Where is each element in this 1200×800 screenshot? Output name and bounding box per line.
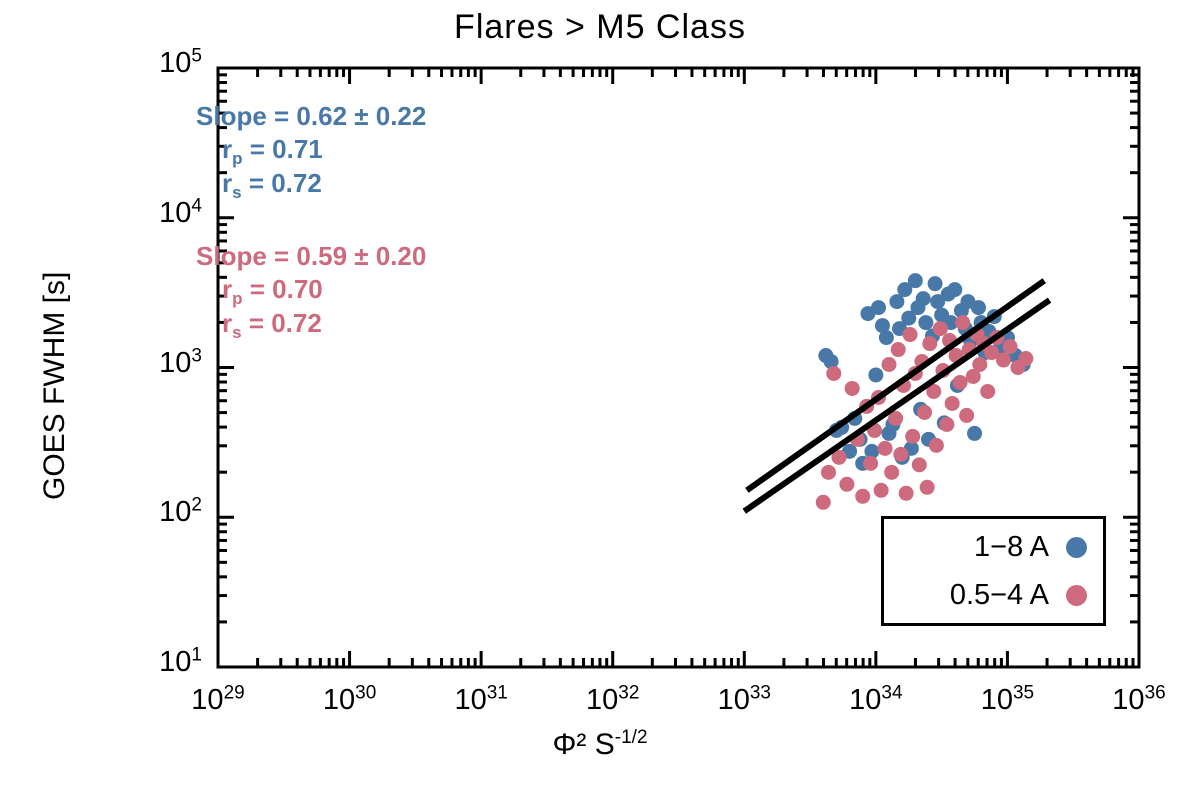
data-point — [918, 315, 933, 330]
data-point — [912, 457, 927, 472]
x-tick-label: 1030 — [290, 684, 410, 717]
data-point — [953, 375, 968, 390]
legend-entry-1[interactable]: 0.5−4 A — [884, 571, 1103, 619]
data-point — [1018, 351, 1033, 366]
y-tick-label: 105 — [110, 47, 202, 80]
stats-blue-rs: rs = 0.72 — [196, 167, 426, 200]
rp-subscript: p — [232, 289, 242, 308]
legend-marker-dot — [1066, 585, 1087, 606]
data-point — [863, 456, 878, 471]
x-axis-label: Φ² S-1/2 — [0, 728, 1200, 762]
data-point — [855, 489, 870, 504]
rs-symbol: r — [222, 308, 232, 338]
y-axis-label: GOES FWHM [s] — [38, 272, 72, 500]
data-point — [972, 357, 987, 372]
legend-entry-0[interactable]: 1−8 A — [884, 523, 1103, 571]
x-tick-label: 1036 — [1079, 684, 1199, 717]
data-point — [893, 447, 908, 462]
stats-red-rs: rs = 0.72 — [196, 307, 426, 340]
rp-symbol: r — [222, 274, 232, 304]
data-point — [882, 357, 897, 372]
data-point — [955, 315, 970, 330]
y-tick-label: 104 — [110, 197, 202, 230]
rs-subscript: s — [232, 322, 241, 341]
stats-annotation-blue: Slope = 0.62 ± 0.22 rp = 0.71 rs = 0.72 — [196, 100, 426, 200]
rs-symbol: r — [222, 168, 232, 198]
data-point — [845, 381, 860, 396]
data-point — [920, 480, 935, 495]
data-point — [891, 342, 906, 357]
data-point — [899, 486, 914, 501]
x-axis-label-text: Φ² S — [552, 728, 614, 761]
stats-red-rp: rp = 0.70 — [196, 273, 426, 306]
legend-label: 1−8 A — [974, 531, 1049, 564]
x-tick-label: 1032 — [553, 684, 673, 717]
data-point — [996, 353, 1011, 368]
data-point — [871, 300, 886, 315]
rs-subscript: s — [232, 182, 241, 201]
data-point — [928, 276, 943, 291]
data-point — [903, 327, 918, 342]
stats-blue-slope: Slope = 0.62 ± 0.22 — [196, 100, 426, 133]
data-point — [839, 477, 854, 492]
stats-red-slope: Slope = 0.59 ± 0.20 — [196, 240, 426, 273]
x-tick-label: 1034 — [816, 684, 936, 717]
data-point — [916, 291, 931, 306]
chart-canvas: Flares > M5 Class 105104103102101 102910… — [0, 0, 1200, 800]
data-point — [933, 321, 948, 336]
data-point — [945, 396, 960, 411]
data-point — [884, 465, 899, 480]
rp-subscript: p — [232, 149, 242, 168]
chart-legend: 1−8 A0.5−4 A — [881, 516, 1106, 626]
legend-marker-dot — [1066, 537, 1087, 558]
x-tick-label: 1031 — [421, 684, 541, 717]
rs-value: = 0.72 — [242, 308, 322, 338]
data-point — [879, 330, 894, 345]
legend-label: 0.5−4 A — [950, 579, 1049, 612]
stats-annotation-red: Slope = 0.59 ± 0.20 rp = 0.70 rs = 0.72 — [196, 240, 426, 340]
data-point — [971, 300, 986, 315]
y-tick-label: 102 — [110, 496, 202, 529]
rp-value: = 0.71 — [243, 134, 323, 164]
data-point — [868, 367, 883, 382]
data-point — [922, 336, 937, 351]
stats-blue-rp: rp = 0.71 — [196, 133, 426, 166]
data-point — [878, 441, 893, 456]
data-point — [826, 366, 841, 381]
data-point — [980, 384, 995, 399]
x-tick-label: 1033 — [684, 684, 804, 717]
x-tick-label: 1035 — [947, 684, 1067, 717]
x-axis-label-exponent: -1/2 — [615, 727, 648, 748]
data-point — [908, 273, 923, 288]
data-point — [821, 465, 836, 480]
rp-value: = 0.70 — [243, 274, 323, 304]
plot-area — [0, 0, 1200, 800]
rs-value: = 0.72 — [242, 168, 322, 198]
data-point — [874, 483, 889, 498]
y-tick-label: 103 — [110, 347, 202, 380]
x-tick-label: 1029 — [158, 684, 278, 717]
data-point — [947, 282, 962, 297]
data-point — [939, 417, 954, 432]
data-point — [1003, 339, 1018, 354]
data-point — [816, 495, 831, 510]
data-point — [905, 429, 920, 444]
rp-symbol: r — [222, 134, 232, 164]
data-point — [959, 408, 974, 423]
data-point — [917, 405, 932, 420]
data-point — [929, 438, 944, 453]
data-point — [967, 426, 982, 441]
y-tick-label: 101 — [110, 646, 202, 679]
